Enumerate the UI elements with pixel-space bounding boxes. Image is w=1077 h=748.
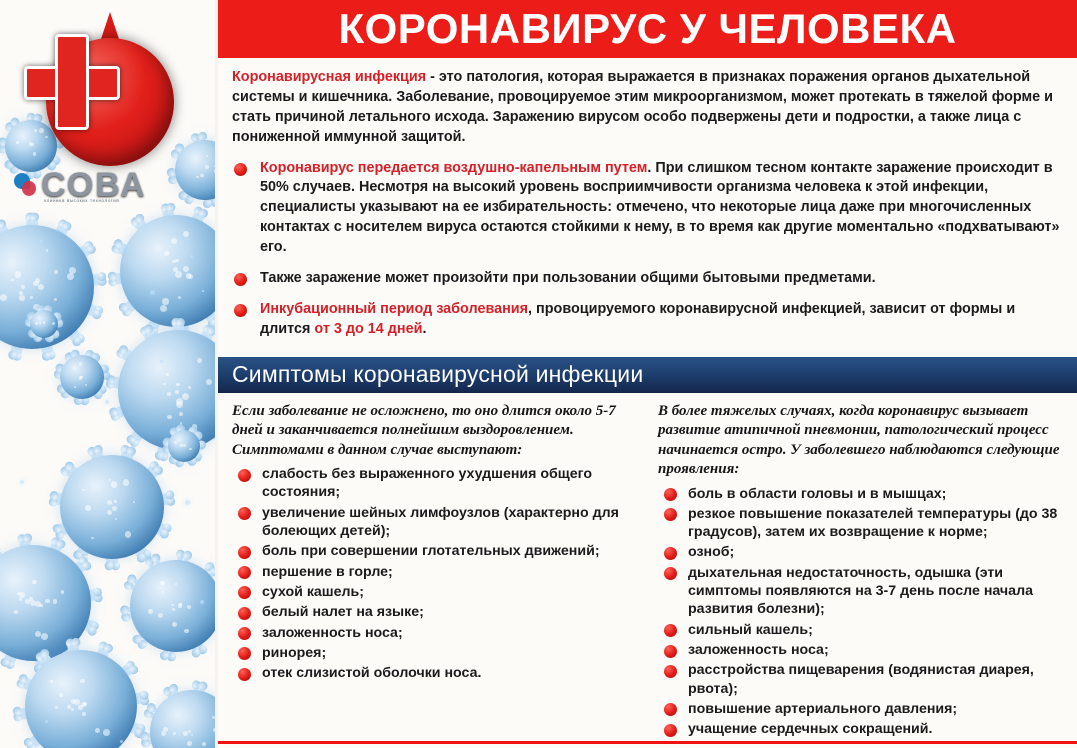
intro-bullet-3: Также заражение может произойти при поль… xyxy=(232,269,1065,289)
virus-particle xyxy=(168,430,200,462)
bullet-dot-icon xyxy=(238,507,251,520)
virus-speck xyxy=(90,620,94,624)
virus-speck xyxy=(150,290,155,295)
list-item: сухой кашель; xyxy=(232,583,640,601)
bullet-dot-icon xyxy=(234,304,247,317)
logo-tagline: клиника высоких технологий xyxy=(44,198,119,203)
intro-p4-lead: Инкубационный период заболевания xyxy=(260,301,528,317)
virus-speck xyxy=(120,740,123,743)
list-item-label: першение в горле; xyxy=(262,564,393,580)
virus-particle xyxy=(60,355,104,399)
virus-speck xyxy=(160,360,163,363)
list-item-label: повышение артериального давления; xyxy=(688,701,957,717)
list-item: першение в горле; xyxy=(232,563,640,581)
list-item: озноб; xyxy=(658,543,1066,561)
virus-particle xyxy=(25,650,137,748)
virus-speck xyxy=(200,600,204,604)
symptoms-column-severe: В более тяжелых случаях, когда коронавир… xyxy=(658,402,1066,741)
list-item: ринорея; xyxy=(232,644,640,662)
list-item: слабость без выраженного ухудшения общег… xyxy=(232,465,640,502)
list-item-label: расстройства пищеварения (водянистая диа… xyxy=(688,662,1034,696)
symptoms-columns: Если заболевание не осложнено, то оно дл… xyxy=(218,393,1077,741)
intro-paragraph-3: Также заражение может произойти при поль… xyxy=(260,269,1065,289)
intro-bullet-4: Инкубационный период заболевания, провоц… xyxy=(232,300,1065,340)
list-item-label: резкое повышение показателей температуры… xyxy=(688,506,1057,540)
logo-wordmark: СОВА xyxy=(14,168,147,202)
list-item-label: учащение сердечных сокращений. xyxy=(688,721,932,737)
list-item-label: увеличение шейных лимфоузлов (характерно… xyxy=(262,505,619,539)
bullet-dot-icon xyxy=(238,627,251,640)
list-item-label: белый налет на языке; xyxy=(262,604,424,620)
virus-particle xyxy=(30,310,58,338)
bullet-dot-icon xyxy=(234,273,247,286)
bullet-dot-icon xyxy=(664,724,677,737)
title-banner: КОРОНАВИРУС У ЧЕЛОВЕКА xyxy=(218,0,1077,58)
sova-mark-icon xyxy=(14,173,36,197)
list-item: белый налет на языке; xyxy=(232,603,640,621)
list-item: боль в области головы и в мышцах; xyxy=(658,485,1066,503)
list-item: заложенность носа; xyxy=(658,641,1066,659)
bullet-dot-icon xyxy=(664,665,677,678)
mild-lead-text: Если заболевание не осложнено, то оно дл… xyxy=(232,402,640,461)
sidebar-virus-illustration: СОВА клиника высоких технологий xyxy=(0,0,218,748)
bullet-dot-icon xyxy=(664,488,677,501)
severe-lead-text: В более тяжелых случаях, когда коронавир… xyxy=(658,402,1066,480)
list-item: увеличение шейных лимфоузлов (характерно… xyxy=(232,504,640,541)
virus-particle xyxy=(130,560,218,652)
intro-p2-lead: Коронавирус передается воздушно-капельны… xyxy=(260,160,647,176)
list-item: сильный кашель; xyxy=(658,621,1066,639)
intro-paragraph-1: Коронавирусная инфекция - это патология,… xyxy=(232,68,1065,148)
bullet-dot-icon xyxy=(664,508,677,521)
infographic-poster: СОВА клиника высоких технологий КОРОНАВИ… xyxy=(0,0,1077,748)
bullet-dot-icon xyxy=(238,546,251,559)
intro-p4-highlight: от 3 до 14 дней xyxy=(314,321,422,337)
list-item-label: отек слизистой оболочки носа. xyxy=(262,665,481,681)
sidebar-divider xyxy=(215,0,218,748)
virus-particle xyxy=(120,215,218,327)
list-item: расстройства пищеварения (водянистая диа… xyxy=(658,661,1066,698)
bullet-dot-icon xyxy=(238,607,251,620)
intro-paragraph-2: Коронавирус передается воздушно-капельны… xyxy=(260,159,1065,258)
virus-speck xyxy=(40,240,43,243)
bullet-dot-icon xyxy=(664,547,677,560)
section-title: Симптомы коронавирусной инфекции xyxy=(232,363,643,386)
bullet-dot-icon xyxy=(664,703,677,716)
list-item: отек слизистой оболочки носа. xyxy=(232,664,640,682)
virus-particle xyxy=(150,690,218,748)
bullet-dot-icon xyxy=(238,469,251,482)
list-item-label: дыхательная недостаточность, одышка (эти… xyxy=(688,565,1033,618)
bullet-dot-icon xyxy=(664,645,677,658)
list-item-label: слабость без выраженного ухудшения общег… xyxy=(262,466,592,500)
symptoms-column-mild: Если заболевание не осложнено, то оно дл… xyxy=(232,402,640,741)
bullet-dot-icon xyxy=(238,586,251,599)
list-item: повышение артериального давления; xyxy=(658,700,1066,718)
list-item: боль при совершении глотательных движени… xyxy=(232,542,640,560)
list-item: дыхательная недостаточность, одышка (эти… xyxy=(658,564,1066,619)
list-item: учащение сердечных сокращений. xyxy=(658,720,1066,738)
footer-bottom-strip xyxy=(218,744,1077,748)
symptoms-section-header: Симптомы коронавирусной инфекции xyxy=(218,357,1077,393)
list-item: заложенность носа; xyxy=(232,624,640,642)
page-title: КОРОНАВИРУС У ЧЕЛОВЕКА xyxy=(339,8,957,50)
medical-cross-icon xyxy=(24,34,120,130)
list-item-label: сухой кашель; xyxy=(262,584,364,600)
virus-speck xyxy=(190,255,193,258)
blood-drop-icon xyxy=(46,12,174,170)
mild-symptom-list: слабость без выраженного ухудшения общег… xyxy=(232,465,640,682)
list-item-label: ринорея; xyxy=(262,645,326,661)
intro-section: Коронавирусная инфекция - это патология,… xyxy=(218,58,1077,353)
bullet-dot-icon xyxy=(664,624,677,637)
content-area: КОРОНАВИРУС У ЧЕЛОВЕКА Коронавирусная ин… xyxy=(218,0,1077,748)
logo-word-text: СОВА xyxy=(41,168,147,202)
bullet-dot-icon xyxy=(238,668,251,681)
severe-symptom-list: боль в области головы и в мышцах;резкое … xyxy=(658,485,1066,739)
list-item-label: боль при совершении глотательных движени… xyxy=(262,543,600,559)
intro-paragraph-4: Инкубационный период заболевания, провоц… xyxy=(260,300,1065,340)
intro-bullet-2: Коронавирус передается воздушно-капельны… xyxy=(232,159,1065,258)
virus-speck xyxy=(45,720,48,723)
virus-speck xyxy=(105,400,109,404)
list-item-label: заложенность носа; xyxy=(262,625,403,641)
list-item-label: боль в области головы и в мышцах; xyxy=(688,486,946,502)
virus-speck xyxy=(185,500,190,505)
list-item: резкое повышение показателей температуры… xyxy=(658,505,1066,542)
virus-particle xyxy=(118,330,218,450)
bullet-dot-icon xyxy=(234,163,247,176)
bullet-dot-icon xyxy=(238,566,251,579)
bullet-dot-icon xyxy=(664,567,677,580)
virus-speck xyxy=(20,480,24,484)
intro-p1-lead: Коронавирусная инфекция xyxy=(232,69,426,85)
virus-particle xyxy=(60,455,164,559)
list-item-label: сильный кашель; xyxy=(688,622,813,638)
list-item-label: озноб; xyxy=(688,544,734,560)
bullet-dot-icon xyxy=(238,647,251,660)
list-item-label: заложенность носа; xyxy=(688,642,829,658)
intro-p4-end: . xyxy=(422,321,426,337)
